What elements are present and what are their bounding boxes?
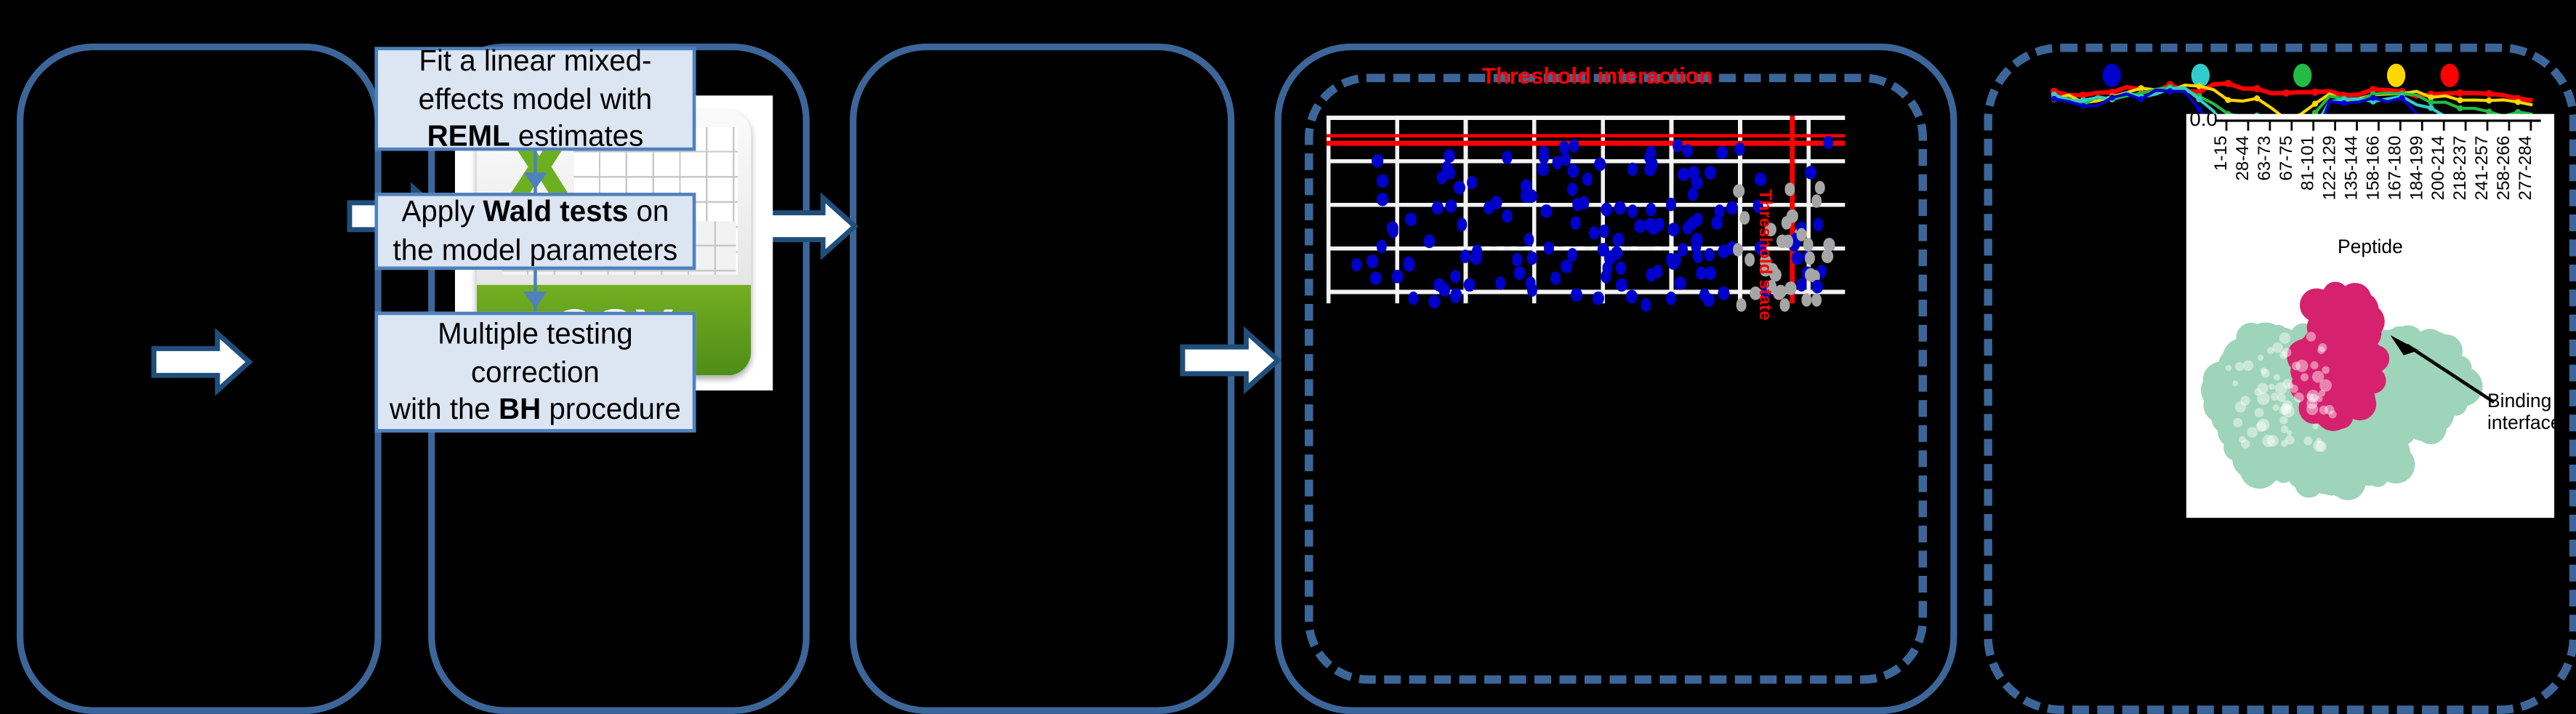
scatter-point xyxy=(1367,255,1377,268)
surface-highlight xyxy=(2257,393,2269,406)
scatter-point xyxy=(1739,211,1750,224)
surface-highlight xyxy=(2273,404,2279,411)
surface-highlight xyxy=(2267,435,2279,446)
scatter-point xyxy=(1370,270,1381,284)
scatter-point xyxy=(1589,225,1600,238)
x-tick-label: 200-214 xyxy=(2428,136,2448,201)
surface-highlight xyxy=(2239,436,2246,444)
surface-highlight xyxy=(2325,405,2334,414)
x-tick-label: 184-199 xyxy=(2407,136,2426,201)
scatter-point xyxy=(1582,173,1593,186)
scatter-point xyxy=(1812,219,1823,232)
line-marker xyxy=(2456,89,2463,97)
scatter-point xyxy=(1495,277,1506,290)
scatter-point xyxy=(1666,197,1677,210)
scatter-point xyxy=(1614,200,1625,213)
x-tick-label: 218-237 xyxy=(2450,136,2470,201)
threshold-interaction-line-upper xyxy=(1327,134,1845,137)
surface-highlight xyxy=(2269,384,2274,390)
scatter-point xyxy=(1561,153,1571,166)
scatter-point xyxy=(1806,268,1816,281)
scatter-point xyxy=(1688,187,1699,200)
line-marker xyxy=(2486,97,2492,103)
line-marker xyxy=(2341,100,2347,106)
line-marker xyxy=(2225,97,2231,103)
scatter-point xyxy=(1514,266,1525,279)
line-marker xyxy=(2138,96,2144,102)
line-marker xyxy=(2457,105,2463,111)
scatter-point xyxy=(1377,175,1388,188)
scatter-point xyxy=(1550,271,1561,284)
x-tick-label: 122-129 xyxy=(2320,136,2340,201)
connector-2-3-head-icon xyxy=(523,292,547,308)
line-marker xyxy=(2515,99,2521,105)
scatter-point xyxy=(1524,233,1534,246)
scatter-point xyxy=(1433,201,1444,214)
scatter-point xyxy=(1611,246,1622,260)
line-marker xyxy=(2196,96,2202,102)
surface-highlight xyxy=(2272,342,2282,353)
scatter-point xyxy=(1805,251,1816,264)
scatter-point xyxy=(1561,260,1571,273)
line-marker xyxy=(2051,96,2057,102)
surface-highlight xyxy=(2281,440,2288,447)
binding-label-line2: interface xyxy=(2487,414,2554,435)
surface-highlight xyxy=(2311,361,2319,369)
scatter-point xyxy=(1439,283,1450,296)
connector-1-2-head-icon xyxy=(523,172,547,189)
fit-model-box: Fit a linear mixed-effects model withREM… xyxy=(374,47,696,151)
scatter-point xyxy=(1372,155,1383,168)
scatter-point xyxy=(1388,224,1398,237)
scatter-point xyxy=(1718,286,1729,300)
scatter-point xyxy=(1444,148,1454,161)
scatter-point xyxy=(1446,199,1457,212)
scatter-point xyxy=(1803,238,1814,251)
figure-scaler: X CSV Fit a linear mixed-effects model w… xyxy=(0,0,2576,687)
surface-highlight xyxy=(2292,361,2301,370)
scatter-point xyxy=(1537,163,1548,176)
scatter-point xyxy=(1612,233,1623,246)
line-marker xyxy=(2080,103,2086,109)
scatter-point xyxy=(1466,175,1477,188)
scatter-point xyxy=(1801,292,1812,305)
x-tick-label: 1-15 xyxy=(2211,136,2231,171)
x-tick-label: 28-44 xyxy=(2233,136,2253,181)
scatter-point xyxy=(1648,221,1659,234)
line-marker xyxy=(2138,85,2144,91)
surface-atom xyxy=(2201,371,2239,409)
scatter-point xyxy=(1570,217,1581,230)
scatter-point xyxy=(1579,196,1590,209)
wald-tests-text: Apply Wald tests onthe model parameters xyxy=(393,193,678,270)
scatter-point xyxy=(1616,277,1627,290)
surface-highlight xyxy=(2258,355,2263,361)
surface-highlight xyxy=(2274,374,2280,380)
scatter-point xyxy=(1792,252,1803,265)
scatter-point xyxy=(1456,218,1467,231)
x-tick-label: 277-284 xyxy=(2516,136,2535,201)
scatter-point xyxy=(1736,298,1747,311)
structure-card: 0.0 1-1528-4463-7367-7581-101122-129135-… xyxy=(2186,114,2554,518)
x-tick-label: 158-166 xyxy=(2363,136,2383,201)
x-tick-label: 258-266 xyxy=(2494,136,2513,201)
scatter-point xyxy=(1511,252,1522,265)
scatter-point xyxy=(1704,247,1715,260)
scatter-point xyxy=(1502,209,1513,222)
line-marker xyxy=(2224,80,2231,87)
surface-highlight xyxy=(2287,430,2292,435)
surface-highlight xyxy=(2279,332,2291,344)
scatter-point xyxy=(1646,203,1657,216)
surface-highlight xyxy=(2312,423,2318,429)
scatter-point xyxy=(1635,220,1646,233)
scatter-point xyxy=(1795,278,1806,292)
scatter-point xyxy=(1784,281,1795,294)
binding-interface-label: Binding interface xyxy=(2487,392,2554,436)
scatter-point xyxy=(1814,180,1825,193)
threshold-state-label: Threshold state xyxy=(1755,189,1775,320)
scatter-point xyxy=(1598,243,1609,256)
scatter-point xyxy=(1544,241,1555,254)
scatter-point xyxy=(1567,183,1578,196)
surface-highlight xyxy=(2301,373,2309,381)
scatter-point xyxy=(1454,181,1465,194)
scatter-point xyxy=(1428,295,1439,308)
scatter-point xyxy=(1779,297,1790,310)
scatter-point xyxy=(1593,292,1603,305)
scatter-point xyxy=(1675,276,1686,289)
scatter-point xyxy=(1615,262,1626,275)
binding-label-line1: Binding xyxy=(2487,392,2551,412)
line-marker xyxy=(2109,95,2115,100)
scatter-point xyxy=(1718,245,1729,258)
line-marker xyxy=(2282,89,2290,97)
scatter-point xyxy=(1812,281,1823,294)
scatter-point xyxy=(1464,278,1475,292)
surface-highlight xyxy=(2235,362,2244,371)
wald-tests-box: Apply Wald tests onthe model parameters xyxy=(374,193,696,270)
surface-atom xyxy=(2245,322,2285,362)
binding-interface-atom xyxy=(2351,389,2375,414)
scatter-point xyxy=(1704,165,1715,178)
surface-highlight xyxy=(2232,380,2238,386)
multiple-testing-text: Multiple testingcorrectionwith the BH pr… xyxy=(390,315,681,429)
surface-highlight xyxy=(2303,436,2312,445)
line-marker xyxy=(2428,105,2434,111)
peptide-axis-label: Peptide xyxy=(2186,238,2554,258)
scatter-point xyxy=(1647,158,1658,171)
scatter-point xyxy=(1377,193,1388,206)
scatter-point xyxy=(1460,249,1470,262)
scatter-point xyxy=(1682,145,1693,158)
surface-highlight xyxy=(2294,393,2304,403)
surface-highlight xyxy=(2257,382,2268,393)
scatter-point xyxy=(1626,289,1637,302)
scatter-point xyxy=(1502,151,1513,164)
scatter-point xyxy=(1652,265,1663,278)
line-marker xyxy=(2167,88,2173,94)
line-marker xyxy=(2370,95,2376,100)
x-tick-label: 81-101 xyxy=(2298,136,2318,190)
scatter-point xyxy=(1678,168,1689,181)
surface-highlight xyxy=(2235,401,2246,412)
line-marker xyxy=(2428,100,2434,105)
scatter-point xyxy=(1526,190,1537,203)
line-marker xyxy=(2312,101,2318,107)
binding-interface-arrow-icon xyxy=(2383,332,2500,409)
surface-highlight xyxy=(2277,393,2286,402)
surface-highlight xyxy=(2255,408,2264,417)
line-marker xyxy=(2254,95,2260,101)
surface-highlight xyxy=(2247,427,2258,438)
scatter-point xyxy=(1377,239,1388,252)
binding-interface-atom xyxy=(2368,346,2384,362)
binding-interface-atom xyxy=(2325,299,2346,319)
scatter-point xyxy=(1782,234,1793,247)
surface-highlight xyxy=(2243,360,2254,371)
threshold-interaction-line xyxy=(1327,141,1845,146)
surface-highlight xyxy=(2306,332,2316,341)
scatter-point xyxy=(1599,225,1610,238)
x-tick-label: 241-257 xyxy=(2472,136,2492,201)
surface-highlight xyxy=(2312,371,2325,383)
scatter-point xyxy=(1594,158,1605,171)
scatter-point xyxy=(1568,139,1579,152)
scatter-point xyxy=(1450,270,1461,284)
surface-highlight xyxy=(2306,404,2318,415)
scatter-point xyxy=(1470,251,1481,264)
scatter-point xyxy=(1811,194,1822,207)
surface-highlight xyxy=(2261,369,2270,378)
scatter-point xyxy=(1787,209,1798,222)
surface-highlight xyxy=(2316,396,2322,402)
x-tick-label: 167-180 xyxy=(2385,136,2404,201)
x-tick-label: 63-73 xyxy=(2255,136,2274,181)
scatter-point xyxy=(1527,251,1538,264)
scatter-point xyxy=(1726,201,1737,214)
scatter-point xyxy=(1449,289,1460,302)
line-marker xyxy=(2457,97,2463,103)
line-marker xyxy=(2253,85,2261,92)
surface-highlight xyxy=(2313,440,2325,452)
scatter-point xyxy=(1541,205,1552,218)
scatter-point xyxy=(1672,138,1683,151)
surface-highlight xyxy=(2318,343,2327,352)
fit-model-text: Fit a linear mixed-effects model withREM… xyxy=(419,41,653,156)
arrow-1-icon xyxy=(150,329,254,396)
scatter-point xyxy=(1627,163,1638,176)
statistical-analysis-panel xyxy=(850,44,1234,714)
scatter-point xyxy=(1668,222,1679,236)
scatter-point xyxy=(1744,252,1755,265)
scatter-point xyxy=(1602,261,1613,274)
scatter-point xyxy=(1805,165,1816,178)
scatter-point xyxy=(1705,266,1716,279)
line-marker xyxy=(2399,95,2405,101)
line-marker xyxy=(2196,83,2202,89)
scatter-point xyxy=(1627,204,1638,217)
line-marker xyxy=(2485,90,2492,97)
scatter-point xyxy=(1408,291,1419,304)
scatter-point xyxy=(1716,146,1727,159)
scatter-point xyxy=(1711,217,1722,230)
multiple-testing-box: Multiple testingcorrectionwith the BH pr… xyxy=(374,312,696,433)
scatter-point xyxy=(1692,250,1703,263)
surface-atom xyxy=(2386,444,2404,463)
surface-highlight xyxy=(2233,418,2242,428)
x-tick-label: 135-144 xyxy=(2342,136,2362,201)
scatter-point xyxy=(1688,167,1699,180)
surface-atom xyxy=(2367,451,2388,473)
line-marker xyxy=(2311,89,2319,96)
threshold-scatter-plot: Threshold state xyxy=(1327,86,1845,304)
scatter-point xyxy=(1392,269,1403,282)
line-marker xyxy=(2196,106,2202,112)
scatter-point xyxy=(1822,136,1833,149)
scatter-point xyxy=(1822,250,1833,263)
line-marker xyxy=(2080,97,2086,103)
scatter-point xyxy=(1601,202,1611,215)
scatter-point xyxy=(1406,213,1417,226)
surface-highlight xyxy=(2290,385,2298,393)
scatter-point xyxy=(1734,185,1744,198)
scatter-point xyxy=(1755,172,1766,185)
scatter-point xyxy=(1571,288,1582,301)
scatter-point xyxy=(1351,258,1362,271)
scatter-point xyxy=(1567,164,1578,177)
surface-highlight xyxy=(2282,405,2295,417)
arrow-4-icon xyxy=(1179,326,1283,393)
surface-highlight xyxy=(2279,351,2287,359)
surface-highlight xyxy=(2322,366,2330,374)
scatter-point xyxy=(1732,244,1743,257)
figure-canvas: X CSV Fit a linear mixed-effects model w… xyxy=(0,0,2576,687)
surface-highlight xyxy=(2279,417,2287,425)
scatter-point xyxy=(1424,235,1435,248)
surface-highlight xyxy=(2226,365,2231,371)
x-tick-label: 67-75 xyxy=(2277,136,2296,181)
scatter-point xyxy=(1444,166,1455,179)
surface-highlight xyxy=(2256,421,2267,432)
